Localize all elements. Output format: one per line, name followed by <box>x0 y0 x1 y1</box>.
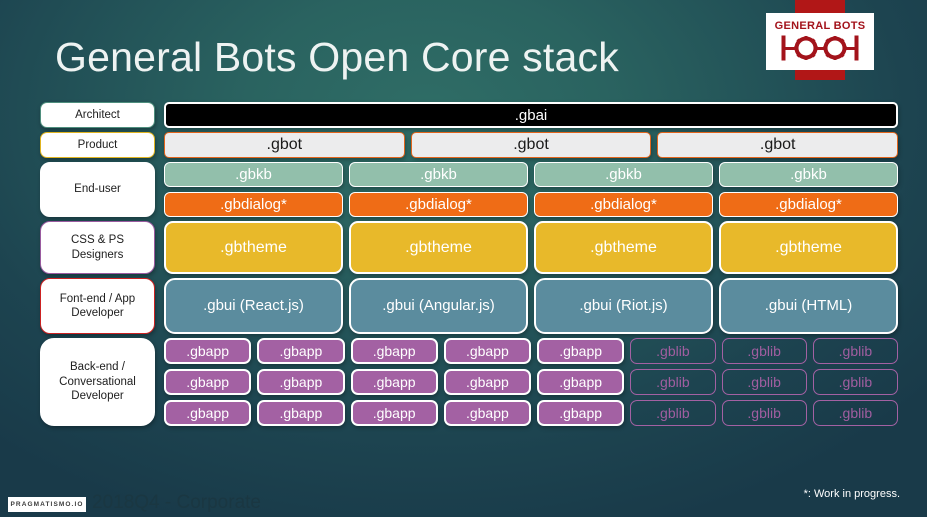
role-label-css-ps-designers[interactable]: CSS & PS Designers <box>40 221 155 274</box>
cell-gbapp[interactable]: .gbapp <box>257 338 344 364</box>
cell-gbapp[interactable]: .gbapp <box>164 369 251 395</box>
role-label-product[interactable]: Product <box>40 132 155 158</box>
row-cells-gbot: .gbot .gbot .gbot <box>164 132 898 158</box>
cell-gblib[interactable]: .gblib <box>722 400 807 426</box>
role-label-col: Product <box>40 132 155 158</box>
cell-gbkb[interactable]: .gbkb <box>164 162 343 187</box>
backend-grid-row: .gbapp .gbapp .gbapp .gbapp .gbapp .gbli… <box>164 400 898 426</box>
cell-gbot[interactable]: .gbot <box>657 132 898 158</box>
slide-canvas: GENERAL BOTS <box>0 0 927 517</box>
cell-gbapp[interactable]: .gbapp <box>164 400 251 426</box>
role-label-col: End-user <box>40 162 155 217</box>
cell-gbtheme[interactable]: .gbtheme <box>719 221 898 274</box>
role-label-end-user[interactable]: End-user <box>40 162 155 217</box>
cell-gbapp[interactable]: .gbapp <box>537 400 624 426</box>
cell-gblib[interactable]: .gblib <box>630 338 715 364</box>
cell-gblib[interactable]: .gblib <box>630 400 715 426</box>
cell-gbtheme[interactable]: .gbtheme <box>164 221 343 274</box>
row-cells-enduser: .gbkb .gbkb .gbkb .gbkb .gbdialog* .gbdi… <box>164 162 898 217</box>
gears-logo-icon <box>777 33 863 63</box>
role-label-col: Architect <box>40 102 155 128</box>
cell-gblib[interactable]: .gblib <box>630 369 715 395</box>
cell-gbai[interactable]: .gbai <box>164 102 898 128</box>
backend-grid-row: .gbapp .gbapp .gbapp .gbapp .gbapp .gbli… <box>164 369 898 395</box>
stack-diagram: Architect .gbai Product .gbot .gbot .gbo… <box>40 102 898 430</box>
stack-row-architect: Architect .gbai <box>40 102 898 128</box>
cell-gbui-angular[interactable]: .gbui (Angular.js) <box>349 278 528 334</box>
row-cells-gbtheme: .gbtheme .gbtheme .gbtheme .gbtheme <box>164 221 898 274</box>
cell-gbkb[interactable]: .gbkb <box>719 162 898 187</box>
cell-gbapp[interactable]: .gbapp <box>444 338 531 364</box>
row-cells-gbai: .gbai <box>164 102 898 128</box>
cell-gbui-html[interactable]: .gbui (HTML) <box>719 278 898 334</box>
stack-row-designers: CSS & PS Designers .gbtheme .gbtheme .gb… <box>40 221 898 274</box>
cell-gbtheme[interactable]: .gbtheme <box>534 221 713 274</box>
cell-gbapp[interactable]: .gbapp <box>351 338 438 364</box>
cell-gbapp[interactable]: .gbapp <box>444 369 531 395</box>
stack-row-enduser: End-user .gbkb .gbkb .gbkb .gbkb .gbdial… <box>40 162 898 217</box>
cell-gbdialog[interactable]: .gbdialog* <box>349 192 528 217</box>
cell-gbapp[interactable]: .gbapp <box>351 400 438 426</box>
cell-gbapp[interactable]: .gbapp <box>537 338 624 364</box>
footer-caption: 2018Q4 - Corporate <box>92 492 261 514</box>
role-label-col: CSS & PS Designers <box>40 221 155 274</box>
stack-row-product: Product .gbot .gbot .gbot <box>40 132 898 158</box>
cell-gblib[interactable]: .gblib <box>813 338 898 364</box>
row-cells-backend-grid: .gbapp .gbapp .gbapp .gbapp .gbapp .gbli… <box>164 338 898 426</box>
stack-row-backend: Back-end / Conversational Developer .gba… <box>40 338 898 426</box>
cell-gbkb[interactable]: .gbkb <box>534 162 713 187</box>
cell-gbapp[interactable]: .gbapp <box>537 369 624 395</box>
row-cells-gbkb: .gbkb .gbkb .gbkb .gbkb <box>164 162 898 187</box>
pragmatismo-wordmark: PRAGMATISMO.IO <box>10 501 83 508</box>
logo-wordmark: GENERAL BOTS <box>775 21 866 32</box>
cell-gblib[interactable]: .gblib <box>722 369 807 395</box>
cell-gbapp[interactable]: .gbapp <box>351 369 438 395</box>
cell-gbui-riot[interactable]: .gbui (Riot.js) <box>534 278 713 334</box>
role-label-col: Font-end / App Developer <box>40 278 155 334</box>
role-label-architect[interactable]: Architect <box>40 102 155 128</box>
cell-gbdialog[interactable]: .gbdialog* <box>719 192 898 217</box>
stack-row-frontend: Font-end / App Developer .gbui (React.js… <box>40 278 898 334</box>
footnote-work-in-progress: *: Work in progress. <box>804 488 900 500</box>
cell-gbapp[interactable]: .gbapp <box>257 369 344 395</box>
general-bots-logo: GENERAL BOTS <box>766 13 874 70</box>
role-label-frontend-app-developer[interactable]: Font-end / App Developer <box>40 278 155 334</box>
row-cells-gbdialog: .gbdialog* .gbdialog* .gbdialog* .gbdial… <box>164 192 898 217</box>
cell-gblib[interactable]: .gblib <box>722 338 807 364</box>
cell-gbot[interactable]: .gbot <box>164 132 405 158</box>
role-label-col: Back-end / Conversational Developer <box>40 338 155 426</box>
pragmatismo-logo: PRAGMATISMO.IO <box>8 497 86 512</box>
slide-title: General Bots Open Core stack <box>55 34 619 81</box>
cell-gbot[interactable]: .gbot <box>411 132 652 158</box>
cell-gblib[interactable]: .gblib <box>813 369 898 395</box>
role-label-backend-conversational-developer[interactable]: Back-end / Conversational Developer <box>40 338 155 426</box>
cell-gblib[interactable]: .gblib <box>813 400 898 426</box>
cell-gbapp[interactable]: .gbapp <box>444 400 531 426</box>
cell-gbdialog[interactable]: .gbdialog* <box>164 192 343 217</box>
cell-gbui-react[interactable]: .gbui (React.js) <box>164 278 343 334</box>
backend-grid-row: .gbapp .gbapp .gbapp .gbapp .gbapp .gbli… <box>164 338 898 364</box>
cell-gbapp[interactable]: .gbapp <box>164 338 251 364</box>
cell-gbdialog[interactable]: .gbdialog* <box>534 192 713 217</box>
cell-gbkb[interactable]: .gbkb <box>349 162 528 187</box>
cell-gbapp[interactable]: .gbapp <box>257 400 344 426</box>
cell-gbtheme[interactable]: .gbtheme <box>349 221 528 274</box>
row-cells-gbui: .gbui (React.js) .gbui (Angular.js) .gbu… <box>164 278 898 334</box>
